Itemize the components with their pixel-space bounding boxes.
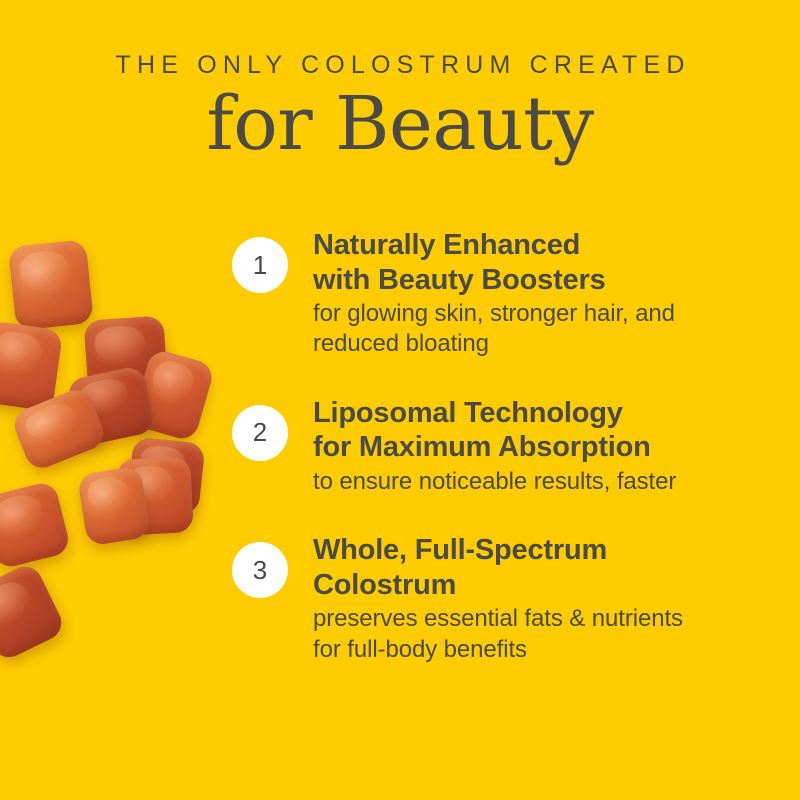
step-number: 3 — [253, 555, 267, 586]
gummy-cube — [77, 465, 151, 546]
step-number-badge: 3 — [232, 542, 288, 598]
gummy-cube — [130, 347, 215, 442]
feature-title: Liposomal Technology for Maximum Absorpt… — [313, 396, 792, 465]
feature-subtitle: for glowing skin, stronger hair, and red… — [313, 299, 792, 360]
feature-title-line: for Maximum Absorption — [313, 431, 651, 463]
feature-title-line: Whole, Full-Spectrum — [313, 534, 607, 566]
feature-subtitle: to ensure noticeable results, faster — [313, 467, 792, 497]
feature-title-line: Liposomal Technology — [313, 397, 623, 429]
gummy-cube — [0, 561, 67, 664]
feature-item: 1 Naturally Enhanced with Beauty Booster… — [232, 228, 792, 360]
gummy-cube — [83, 315, 168, 398]
step-number: 2 — [253, 417, 267, 448]
step-number-badge: 1 — [232, 237, 288, 293]
gummy-cube — [116, 456, 194, 536]
feature-item: 3 Whole, Full-Spectrum Colostrum preserv… — [232, 533, 792, 665]
header: THE ONLY COLOSTRUM CREATED for Beauty — [0, 0, 800, 163]
feature-list: 1 Naturally Enhanced with Beauty Booster… — [232, 228, 792, 665]
gummy-cube — [8, 239, 94, 331]
gummy-cube — [0, 480, 72, 570]
gummy-cube — [9, 385, 108, 473]
feature-title: Whole, Full-Spectrum Colostrum — [313, 533, 792, 602]
gummy-cube — [126, 436, 205, 515]
page-title: for Beauty — [0, 86, 800, 164]
feature-subtitle-line: for full-body benefits — [313, 636, 527, 663]
feature-title-line: with Beauty Boosters — [313, 264, 606, 296]
feature-subtitle: preserves essential fats & nutrients for… — [313, 604, 792, 665]
feature-title: Naturally Enhanced with Beauty Boosters — [313, 228, 792, 297]
feature-subtitle-line: reduced bloating — [313, 330, 489, 357]
feature-item: 2 Liposomal Technology for Maximum Absor… — [232, 396, 792, 497]
step-number: 1 — [253, 250, 267, 281]
gummy-cube — [66, 365, 156, 448]
eyebrow-text: THE ONLY COLOSTRUM CREATED — [0, 52, 800, 80]
feature-title-line: Colostrum — [313, 569, 456, 601]
gummy-cube — [0, 320, 63, 412]
step-number-badge: 2 — [232, 405, 288, 461]
feature-title-line: Naturally Enhanced — [313, 229, 580, 261]
feature-subtitle-line: for glowing skin, stronger hair, and — [313, 300, 675, 327]
feature-subtitle-line: to ensure noticeable results, faster — [313, 468, 676, 495]
feature-subtitle-line: preserves essential fats & nutrients — [313, 605, 683, 632]
